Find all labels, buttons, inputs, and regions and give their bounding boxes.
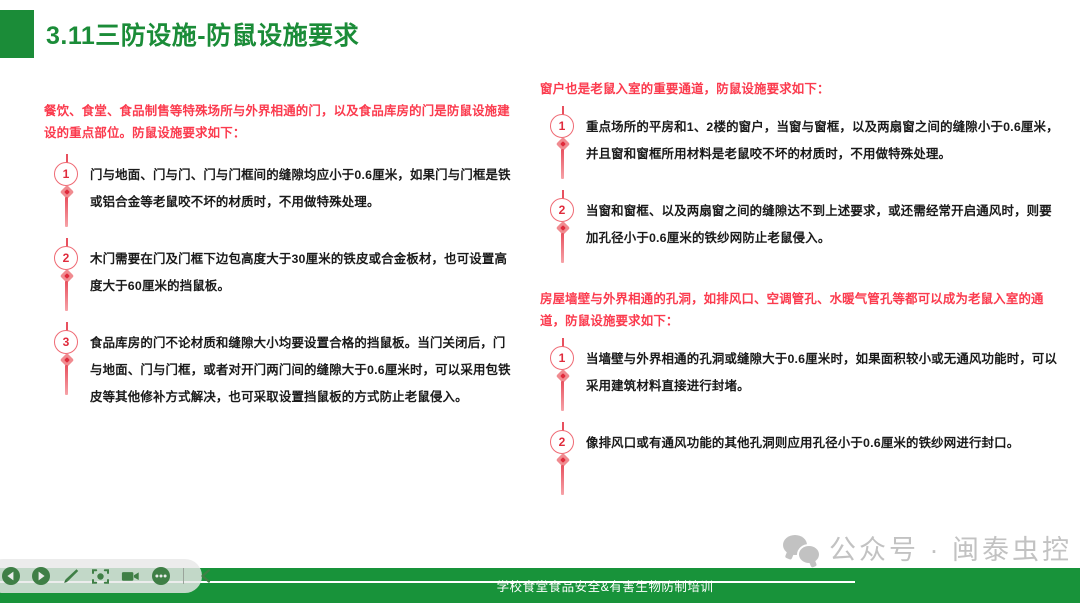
video-camera-icon[interactable] [120,566,141,587]
chevron-left-icon[interactable] [195,566,216,587]
item-number: 2 [550,430,574,454]
right-lead-paragraph-windows: 窗户也是老鼠入室的重要通道，防鼠设施要求如下： [540,78,1064,100]
item-number: 1 [54,162,78,186]
item-marker-icon: 1 [544,338,582,412]
slide-content: 餐饮、食堂、食品制售等特殊场所与外界相通的门，以及食品库房的门是防鼠设施建设的重… [0,78,1080,528]
left-item-list: 1 门与地面、门与门、门与门框间的缝隙均应小于0.6厘米，如果门与门框是铁或铝合… [44,160,518,411]
item-marker-icon: 2 [544,190,582,264]
pen-icon[interactable] [60,566,81,587]
list-item: 1 重点场所的平房和1、2楼的窗户，当窗与窗框，以及两扇窗之间的缝隙小于0.6厘… [540,112,1064,180]
left-column: 餐饮、食堂、食品制售等特殊场所与外界相通的门，以及食品库房的门是防鼠设施建设的重… [0,78,536,528]
playback-toolbar[interactable] [0,559,202,593]
item-number: 2 [550,198,574,222]
right-column: 窗户也是老鼠入室的重要通道，防鼠设施要求如下： 1 重点场所的平房和1、2楼的窗… [536,78,1080,528]
toolbar-separator [183,568,184,584]
item-marker-icon: 1 [48,154,86,228]
item-number: 1 [550,114,574,138]
watermark: 公众号 · 闽泰虫控 [783,528,1072,567]
right-lead-paragraph-holes: 房屋墙壁与外界相通的孔洞，如排风口、空调管孔、水暖气管孔等都可以成为老鼠入室的通… [540,288,1064,332]
page-title: 3.11三防设施-防鼠设施要求 [46,16,359,52]
right-item-list-holes: 1 当墙壁与外界相通的孔洞或缝隙大于0.6厘米时，如果面积较小或无通风功能时，可… [540,344,1064,496]
item-text: 像排风口或有通风功能的其他孔洞则应用孔径小于0.6厘米的铁纱网进行封口。 [586,428,1064,457]
item-marker-icon: 2 [544,422,582,496]
item-number: 1 [550,346,574,370]
item-text: 食品库房的门不论材质和缝隙大小均要设置合格的挡鼠板。当门关闭后，门与地面、门与门… [90,328,518,411]
wechat-icon [783,533,823,563]
list-item: 2 当窗和窗框、以及两扇窗之间的缝隙达不到上述要求，或还需经常开启通风时，则要加… [540,196,1064,264]
item-number: 3 [54,330,78,354]
item-text: 当墙壁与外界相通的孔洞或缝隙大于0.6厘米时，如果面积较小或无通风功能时，可以采… [586,344,1064,400]
left-lead-paragraph: 餐饮、食堂、食品制售等特殊场所与外界相通的门，以及食品库房的门是防鼠设施建设的重… [44,100,518,144]
item-number: 2 [54,246,78,270]
watermark-text: 公众号 · 闽泰虫控 [829,528,1072,567]
item-marker-icon: 2 [48,238,86,312]
item-text: 当窗和窗框、以及两扇窗之间的缝隙达不到上述要求，或还需经常开启通风时，则要加孔径… [586,196,1064,252]
list-item: 1 门与地面、门与门、门与门框间的缝隙均应小于0.6厘米，如果门与门框是铁或铝合… [44,160,518,228]
list-item: 2 木门需要在门及门框下边包高度大于30厘米的铁皮或合金板材，也可设置高度大于6… [44,244,518,312]
ellipsis-icon[interactable] [150,566,171,587]
item-marker-icon: 3 [48,322,86,396]
item-text: 门与地面、门与门、门与门框间的缝隙均应小于0.6厘米，如果门与门框是铁或铝合金等… [90,160,518,216]
play-forward-icon[interactable] [30,566,51,587]
item-text: 重点场所的平房和1、2楼的窗户，当窗与窗框，以及两扇窗之间的缝隙小于0.6厘米，… [586,112,1064,168]
play-back-icon[interactable] [0,566,21,587]
focus-frame-icon[interactable] [90,566,111,587]
header-accent-block [0,10,34,58]
item-text: 木门需要在门及门框下边包高度大于30厘米的铁皮或合金板材，也可设置高度大于60厘… [90,244,518,300]
item-marker-icon: 1 [544,106,582,180]
list-item: 1 当墙壁与外界相通的孔洞或缝隙大于0.6厘米时，如果面积较小或无通风功能时，可… [540,344,1064,412]
slide-header: 3.11三防设施-防鼠设施要求 [0,10,1080,58]
list-item: 3 食品库房的门不论材质和缝隙大小均要设置合格的挡鼠板。当门关闭后，门与地面、门… [44,328,518,411]
list-item: 2 像排风口或有通风功能的其他孔洞则应用孔径小于0.6厘米的铁纱网进行封口。 [540,428,1064,496]
right-item-list-windows: 1 重点场所的平房和1、2楼的窗户，当窗与窗框，以及两扇窗之间的缝隙小于0.6厘… [540,112,1064,264]
